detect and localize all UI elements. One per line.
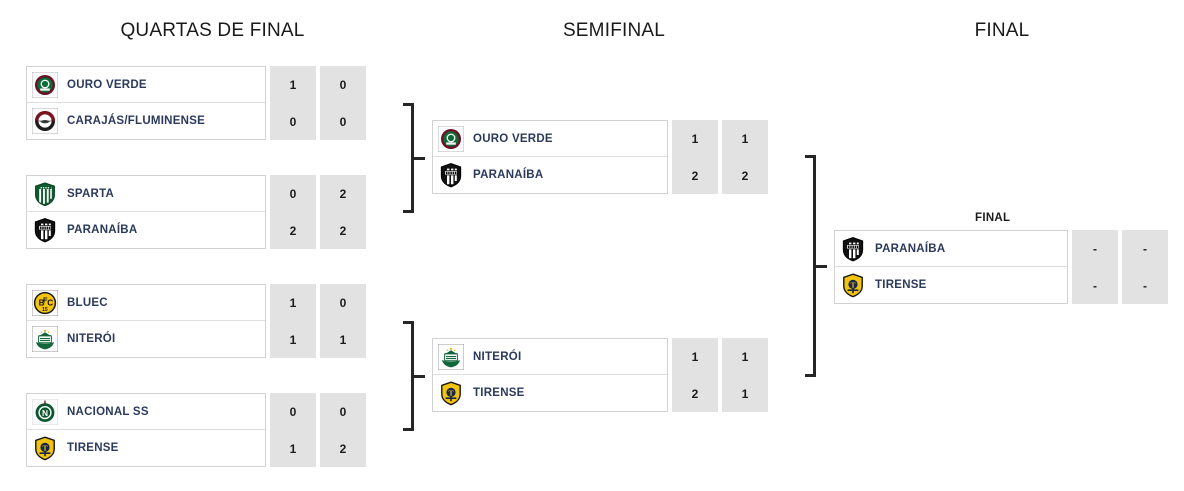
score-column-leg2: 2 2 bbox=[320, 175, 366, 249]
match-semifinal-2[interactable]: NITERÓI TIRENSE 1 2 1 1 bbox=[432, 338, 768, 412]
team-name: TIRENSE bbox=[67, 442, 119, 454]
paranaiba-crest-icon bbox=[438, 162, 464, 188]
match-quarterfinal-1[interactable]: OURO VERDE CARAJÁS/FLUMINENSE 1 0 0 0 bbox=[26, 66, 366, 140]
bracket-connector-semifinal-1 bbox=[403, 103, 427, 213]
team-row[interactable]: PARANAÍBA bbox=[433, 157, 667, 193]
team-row[interactable]: PARANAÍBA bbox=[27, 212, 265, 248]
team-row[interactable]: NITERÓI bbox=[27, 321, 265, 357]
round-heading-semifinal: SEMIFINAL bbox=[420, 20, 808, 42]
score-cell: 2 bbox=[320, 212, 366, 249]
score-column-leg2: 1 2 bbox=[722, 120, 768, 194]
score-column-leg2: 1 1 bbox=[722, 338, 768, 412]
score-cell: 2 bbox=[672, 375, 718, 412]
ouro-verde-crest-icon bbox=[438, 126, 464, 152]
team-name: PARANAÍBA bbox=[875, 243, 945, 255]
match-team-list: NACIONAL SS TIRENSE bbox=[26, 393, 266, 467]
score-cell: 1 bbox=[270, 430, 316, 467]
match-team-list: PARANAÍBA TIRENSE bbox=[834, 230, 1068, 304]
niteroi-crest-icon bbox=[438, 344, 464, 370]
score-cell: 1 bbox=[270, 321, 316, 358]
score-column-leg2: 0 1 bbox=[320, 284, 366, 358]
match-team-list: OURO VERDE CARAJÁS/FLUMINENSE bbox=[26, 66, 266, 140]
sparta-crest-icon bbox=[32, 181, 58, 207]
team-row[interactable]: NITERÓI bbox=[433, 339, 667, 375]
score-cell: 2 bbox=[320, 175, 366, 212]
team-row[interactable]: NACIONAL SS bbox=[27, 394, 265, 430]
score-cell: 1 bbox=[722, 338, 768, 375]
team-row[interactable]: OURO VERDE bbox=[433, 121, 667, 157]
team-name: NACIONAL SS bbox=[67, 406, 149, 418]
score-column-leg1: 1 2 bbox=[672, 338, 718, 412]
score-column-leg2: - - bbox=[1122, 230, 1168, 304]
score-cell: - bbox=[1122, 267, 1168, 304]
round-heading-final: FINAL bbox=[820, 20, 1184, 42]
score-column-leg1: - - bbox=[1072, 230, 1118, 304]
paranaiba-crest-icon bbox=[840, 236, 866, 262]
match-team-list: OURO VERDE PARANAÍBA bbox=[432, 120, 668, 194]
score-cell: 0 bbox=[320, 66, 366, 103]
bracket-connector-final bbox=[805, 155, 829, 377]
tirense-crest-icon bbox=[840, 272, 866, 298]
match-quarterfinal-3[interactable]: BLUEC NITERÓI 1 1 0 1 bbox=[26, 284, 366, 358]
paranaiba-crest-icon bbox=[32, 217, 58, 243]
team-name: OURO VERDE bbox=[67, 79, 147, 91]
team-row[interactable]: BLUEC bbox=[27, 285, 265, 321]
final-box-label: FINAL bbox=[975, 212, 1010, 224]
score-cell: 0 bbox=[270, 175, 316, 212]
tirense-crest-icon bbox=[438, 380, 464, 406]
score-cell: - bbox=[1072, 267, 1118, 304]
score-column-leg2: 0 0 bbox=[320, 66, 366, 140]
score-cell: 2 bbox=[270, 212, 316, 249]
score-column-leg1: 0 1 bbox=[270, 393, 316, 467]
score-column-leg1: 1 1 bbox=[270, 284, 316, 358]
tirense-crest-icon bbox=[32, 435, 58, 461]
team-name: SPARTA bbox=[67, 188, 114, 200]
score-cell: 0 bbox=[270, 103, 316, 140]
team-name: TIRENSE bbox=[875, 279, 927, 291]
team-name: CARAJÁS/FLUMINENSE bbox=[67, 115, 205, 127]
score-cell: 1 bbox=[672, 120, 718, 157]
score-cell: 0 bbox=[320, 284, 366, 321]
nacional-ss-crest-icon bbox=[32, 399, 58, 425]
team-name: TIRENSE bbox=[473, 387, 525, 399]
team-row[interactable]: TIRENSE bbox=[27, 430, 265, 466]
team-name: OURO VERDE bbox=[473, 133, 553, 145]
team-name: PARANAÍBA bbox=[473, 169, 543, 181]
score-cell: 1 bbox=[270, 66, 316, 103]
team-row[interactable]: TIRENSE bbox=[433, 375, 667, 411]
bracket-connector-semifinal-2 bbox=[403, 321, 427, 431]
score-cell: - bbox=[1072, 230, 1118, 267]
bluec-crest-icon bbox=[32, 290, 58, 316]
score-cell: 2 bbox=[320, 430, 366, 467]
team-row[interactable]: TIRENSE bbox=[835, 267, 1067, 303]
match-team-list: SPARTA PARANAÍBA bbox=[26, 175, 266, 249]
match-quarterfinal-4[interactable]: NACIONAL SS TIRENSE 0 1 0 2 bbox=[26, 393, 366, 467]
score-cell: 1 bbox=[722, 375, 768, 412]
team-row[interactable]: PARANAÍBA bbox=[835, 231, 1067, 267]
score-cell: 1 bbox=[270, 284, 316, 321]
team-row[interactable]: CARAJÁS/FLUMINENSE bbox=[27, 103, 265, 139]
match-team-list: NITERÓI TIRENSE bbox=[432, 338, 668, 412]
score-cell: 1 bbox=[672, 338, 718, 375]
score-cell: 2 bbox=[672, 157, 718, 194]
score-cell: 2 bbox=[722, 157, 768, 194]
match-team-list: BLUEC NITERÓI bbox=[26, 284, 266, 358]
carajas-crest-icon bbox=[32, 108, 58, 134]
team-row[interactable]: OURO VERDE bbox=[27, 67, 265, 103]
team-name: BLUEC bbox=[67, 297, 108, 309]
match-quarterfinal-2[interactable]: SPARTA PARANAÍBA 0 2 2 2 bbox=[26, 175, 366, 249]
score-cell: 1 bbox=[320, 321, 366, 358]
team-name: NITERÓI bbox=[67, 333, 115, 345]
score-column-leg1: 1 0 bbox=[270, 66, 316, 140]
team-name: PARANAÍBA bbox=[67, 224, 137, 236]
score-cell: 0 bbox=[320, 393, 366, 430]
score-column-leg1: 0 2 bbox=[270, 175, 316, 249]
team-row[interactable]: SPARTA bbox=[27, 176, 265, 212]
ouro-verde-crest-icon bbox=[32, 72, 58, 98]
score-cell: - bbox=[1122, 230, 1168, 267]
score-cell: 0 bbox=[270, 393, 316, 430]
score-cell: 0 bbox=[320, 103, 366, 140]
match-semifinal-1[interactable]: OURO VERDE PARANAÍBA 1 2 1 2 bbox=[432, 120, 768, 194]
match-final[interactable]: PARANAÍBA TIRENSE - - - - bbox=[834, 230, 1168, 304]
score-column-leg1: 1 2 bbox=[672, 120, 718, 194]
score-column-leg2: 0 2 bbox=[320, 393, 366, 467]
niteroi-crest-icon bbox=[32, 326, 58, 352]
round-heading-quarterfinals: QUARTAS DE FINAL bbox=[0, 20, 425, 42]
team-name: NITERÓI bbox=[473, 351, 521, 363]
score-cell: 1 bbox=[722, 120, 768, 157]
